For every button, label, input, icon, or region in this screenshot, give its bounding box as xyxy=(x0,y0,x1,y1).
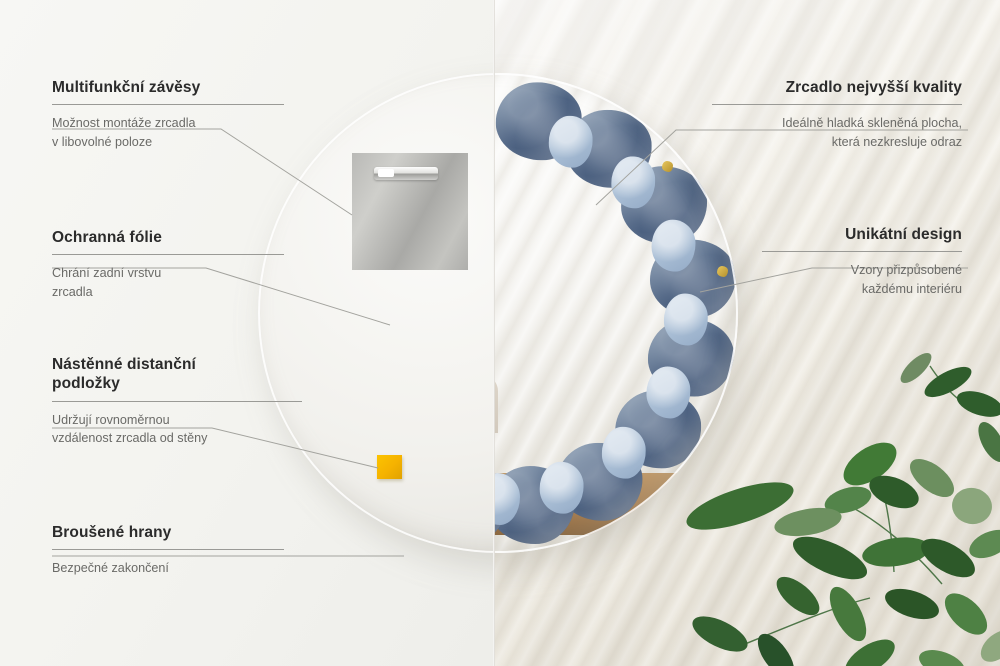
callout-title: Ochranná fólie xyxy=(52,228,284,247)
callout-rule xyxy=(52,549,284,550)
callout-rule xyxy=(52,401,302,402)
callout-body: Možnost montáže zrcadla v libovolné polo… xyxy=(52,114,284,151)
callout-rule xyxy=(712,104,962,105)
callout-unikatni-design: Unikátní design Vzory přizpůsobené každé… xyxy=(762,225,962,298)
callout-body: Bezpečné zakončení xyxy=(52,559,284,577)
callout-body: Udržují rovnoměrnou vzdálenost zrcadla o… xyxy=(52,411,302,448)
callout-zrcadlo-nejvyssi-kvality: Zrcadlo nejvyšší kvality Ideálně hladká … xyxy=(712,78,962,151)
callout-multifunkcni-zavesy: Multifunkční závěsy Možnost montáže zrca… xyxy=(52,78,284,151)
callout-body: Chrání zadní vrstvu zrcadla xyxy=(52,264,284,301)
callout-body: Vzory přizpůsobené každému interiéru xyxy=(762,261,962,298)
callout-body: Ideálně hladká skleněná plocha, která ne… xyxy=(712,114,962,151)
callout-rule xyxy=(762,251,962,252)
callout-title: Unikátní design xyxy=(762,225,962,244)
callout-brousene-hrany: Broušené hrany Bezpečné zakončení xyxy=(52,523,284,578)
infographic-canvas: Multifunkční závěsy Možnost montáže zrca… xyxy=(0,0,1000,666)
callout-rule xyxy=(52,254,284,255)
callout-nastenne-distancni-podlozky: Nástěnné distanční podložky Udržují rovn… xyxy=(52,355,302,447)
callout-title: Multifunkční závěsy xyxy=(52,78,284,97)
callout-title: Nástěnné distanční podložky xyxy=(52,355,302,394)
callout-rule xyxy=(52,104,284,105)
callout-title: Broušené hrany xyxy=(52,523,284,542)
callout-ochranna-folie: Ochranná fólie Chrání zadní vrstvu zrcad… xyxy=(52,228,284,301)
callout-title: Zrcadlo nejvyšší kvality xyxy=(712,78,962,97)
